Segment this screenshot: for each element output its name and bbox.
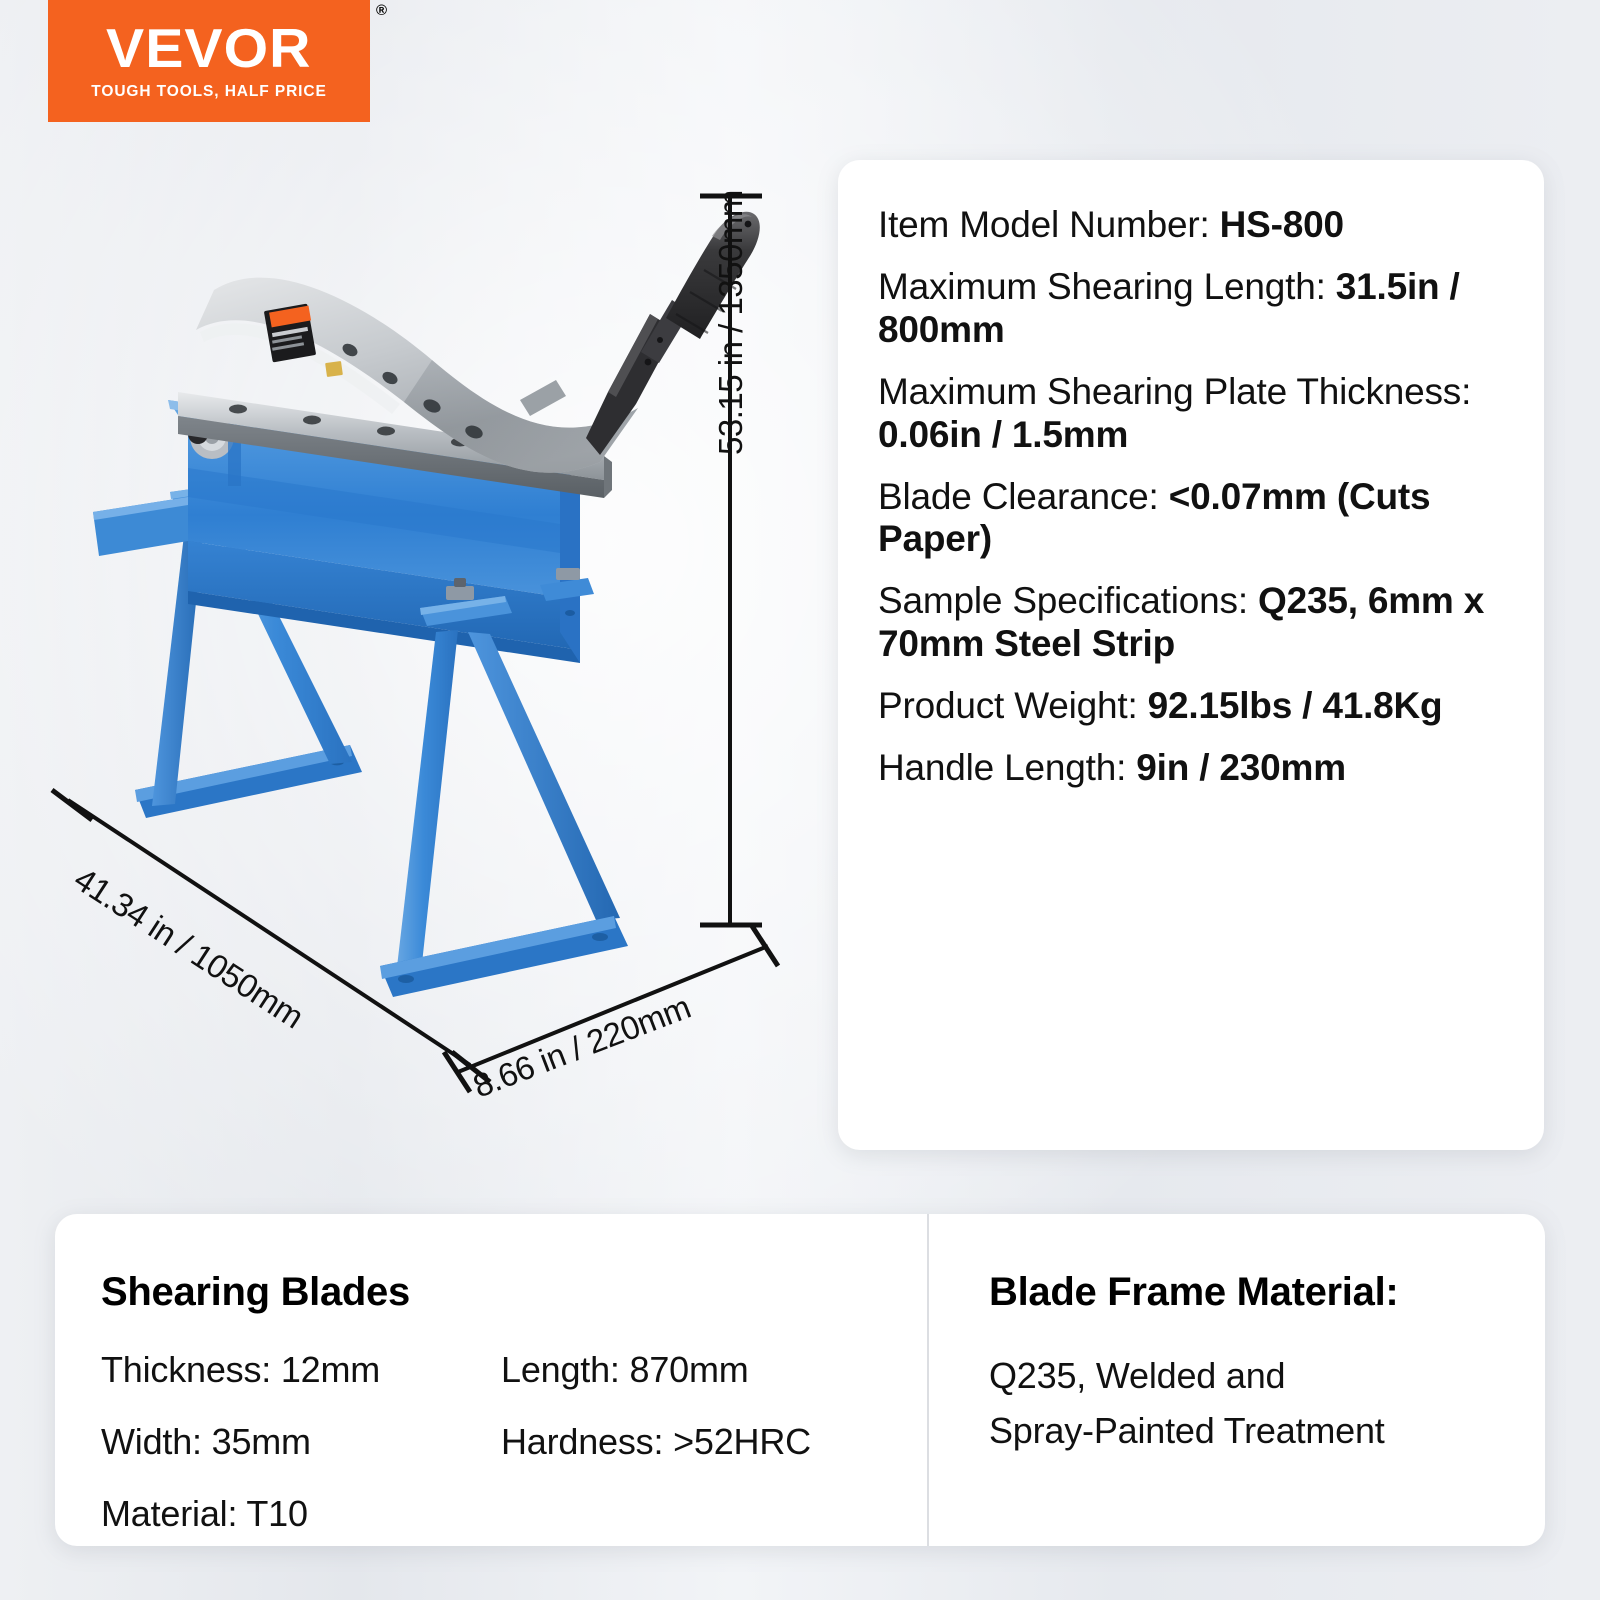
specifications-card: Item Model Number: HS-800 Maximum Sheari… bbox=[838, 160, 1544, 1150]
spec-row: Sample Specifications: Q235, 6mm x 70mm … bbox=[878, 580, 1510, 666]
blade-frame-line-2: Spray-Painted Treatment bbox=[989, 1404, 1545, 1459]
spec-value: 0.06in / 1.5mm bbox=[878, 414, 1128, 455]
brand-tagline: TOUGH TOOLS, HALF PRICE bbox=[91, 83, 326, 101]
spec-row: Product Weight: 92.15lbs / 41.8Kg bbox=[878, 685, 1510, 728]
dimension-label-height: 53.15 in / 1350mm bbox=[712, 190, 750, 455]
materials-card: Shearing Blades Thickness: 12mm Length: … bbox=[55, 1214, 1545, 1546]
blade-frame-line-1: Q235, Welded and bbox=[989, 1349, 1545, 1404]
spec-label: Product Weight: bbox=[878, 685, 1148, 726]
blade-spec-thickness: Thickness: 12mm bbox=[101, 1349, 501, 1391]
spec-row: Blade Clearance: <0.07mm (Cuts Paper) bbox=[878, 476, 1510, 562]
spec-value: 92.15lbs / 41.8Kg bbox=[1148, 685, 1443, 726]
blade-frame-title: Blade Frame Material: bbox=[989, 1270, 1545, 1315]
shearing-blades-section: Shearing Blades Thickness: 12mm Length: … bbox=[55, 1214, 927, 1546]
blade-spec-hardness: Hardness: >52HRC bbox=[501, 1421, 927, 1463]
blade-spec-length: Length: 870mm bbox=[501, 1349, 927, 1391]
blade-frame-section: Blade Frame Material: Q235, Welded and S… bbox=[927, 1214, 1545, 1546]
brand-wordmark: VEVOR bbox=[106, 21, 311, 76]
spec-row: Item Model Number: HS-800 bbox=[878, 204, 1510, 247]
blade-spec-width: Width: 35mm bbox=[101, 1421, 501, 1463]
spec-label: Blade Clearance: bbox=[878, 476, 1169, 517]
spec-value: 9in / 230mm bbox=[1136, 747, 1346, 788]
spec-row: Handle Length: 9in / 230mm bbox=[878, 747, 1510, 790]
product-photo bbox=[0, 0, 838, 1160]
vevor-logo: VEVOR ® TOUGH TOOLS, HALF PRICE bbox=[48, 0, 370, 122]
spec-row: Maximum Shearing Plate Thickness: 0.06in… bbox=[878, 371, 1510, 457]
spec-label: Maximum Shearing Length: bbox=[878, 266, 1336, 307]
registered-trademark-icon: ® bbox=[376, 2, 387, 19]
blade-spec-material: Material: T10 bbox=[101, 1493, 501, 1535]
warning-label bbox=[264, 304, 316, 363]
spec-label: Item Model Number: bbox=[878, 204, 1220, 245]
spec-value: HS-800 bbox=[1220, 204, 1344, 245]
spec-label: Maximum Shearing Plate Thickness: bbox=[878, 371, 1471, 412]
specifications-list: Item Model Number: HS-800 Maximum Sheari… bbox=[838, 160, 1544, 790]
spec-row: Maximum Shearing Length: 31.5in / 800mm bbox=[878, 266, 1510, 352]
spec-label: Sample Specifications: bbox=[878, 580, 1258, 621]
shearing-blades-title: Shearing Blades bbox=[101, 1270, 927, 1315]
shearing-blades-grid: Thickness: 12mm Length: 870mm Width: 35m… bbox=[101, 1349, 927, 1535]
spec-label: Handle Length: bbox=[878, 747, 1136, 788]
